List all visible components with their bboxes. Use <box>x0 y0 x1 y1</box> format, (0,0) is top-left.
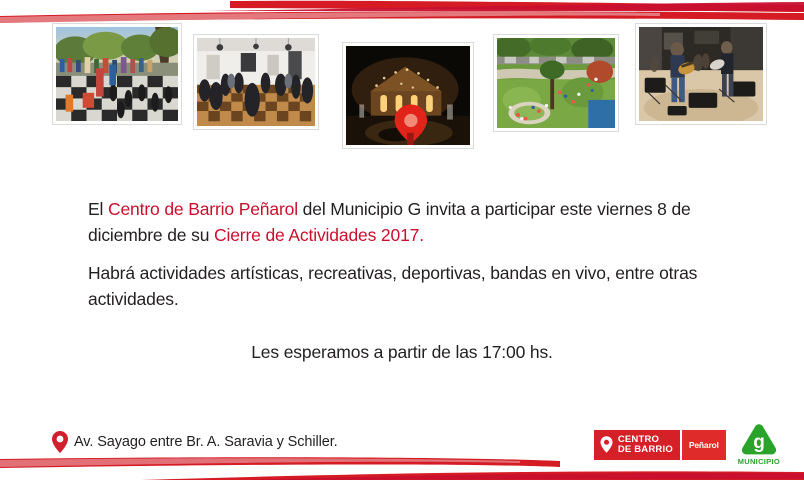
highlight-line: Les esperamos a partir de las 17:00 hs. <box>0 340 804 364</box>
logo-line-de-barrio: DE BARRIO <box>618 445 673 455</box>
location-pin-icon <box>50 430 70 454</box>
accent-cierre-actividades: Cierre de Actividades 2017. <box>214 225 424 245</box>
photo-dance-hall <box>194 35 318 129</box>
photo-aerial-park <box>494 35 618 131</box>
logo-sub-penarol: Peñarol <box>689 440 719 450</box>
paragraph-segment-1: El <box>88 199 108 219</box>
photo-live-band <box>636 24 766 124</box>
location-pin-icon <box>599 435 614 454</box>
footer-address: Av. Sayago entre Br. A. Saravia y Schill… <box>50 430 338 454</box>
logo-centro-de-barrio: CENTRO DE BARRIO Peñarol <box>594 430 726 460</box>
logo-label-municipio: MUNICIPIO <box>738 457 780 466</box>
logo-municipio-g: g MUNICIPIO <box>738 423 780 466</box>
municipio-triangle-icon: g <box>740 423 778 456</box>
accent-centro-de-barrio: Centro de Barrio Peñarol <box>108 199 298 219</box>
photo-strip <box>0 0 804 160</box>
address-text: Av. Sayago entre Br. A. Saravia y Schill… <box>74 434 338 450</box>
svg-text:g: g <box>753 432 765 453</box>
paragraph-invitation: El Centro de Barrio Peñarol del Municipi… <box>88 196 728 248</box>
flyer-canvas: El Centro de Barrio Peñarol del Municipi… <box>0 0 804 484</box>
photo-giant-chess <box>53 24 181 124</box>
footer-logo-group: CENTRO DE BARRIO Peñarol g MUNICIPIO <box>594 423 780 466</box>
body-copy: El Centro de Barrio Peñarol del Municipi… <box>88 196 728 316</box>
paragraph-activities: Habrá actividades artísticas, recreativa… <box>88 260 728 312</box>
photo-night-building-pin <box>343 43 473 148</box>
